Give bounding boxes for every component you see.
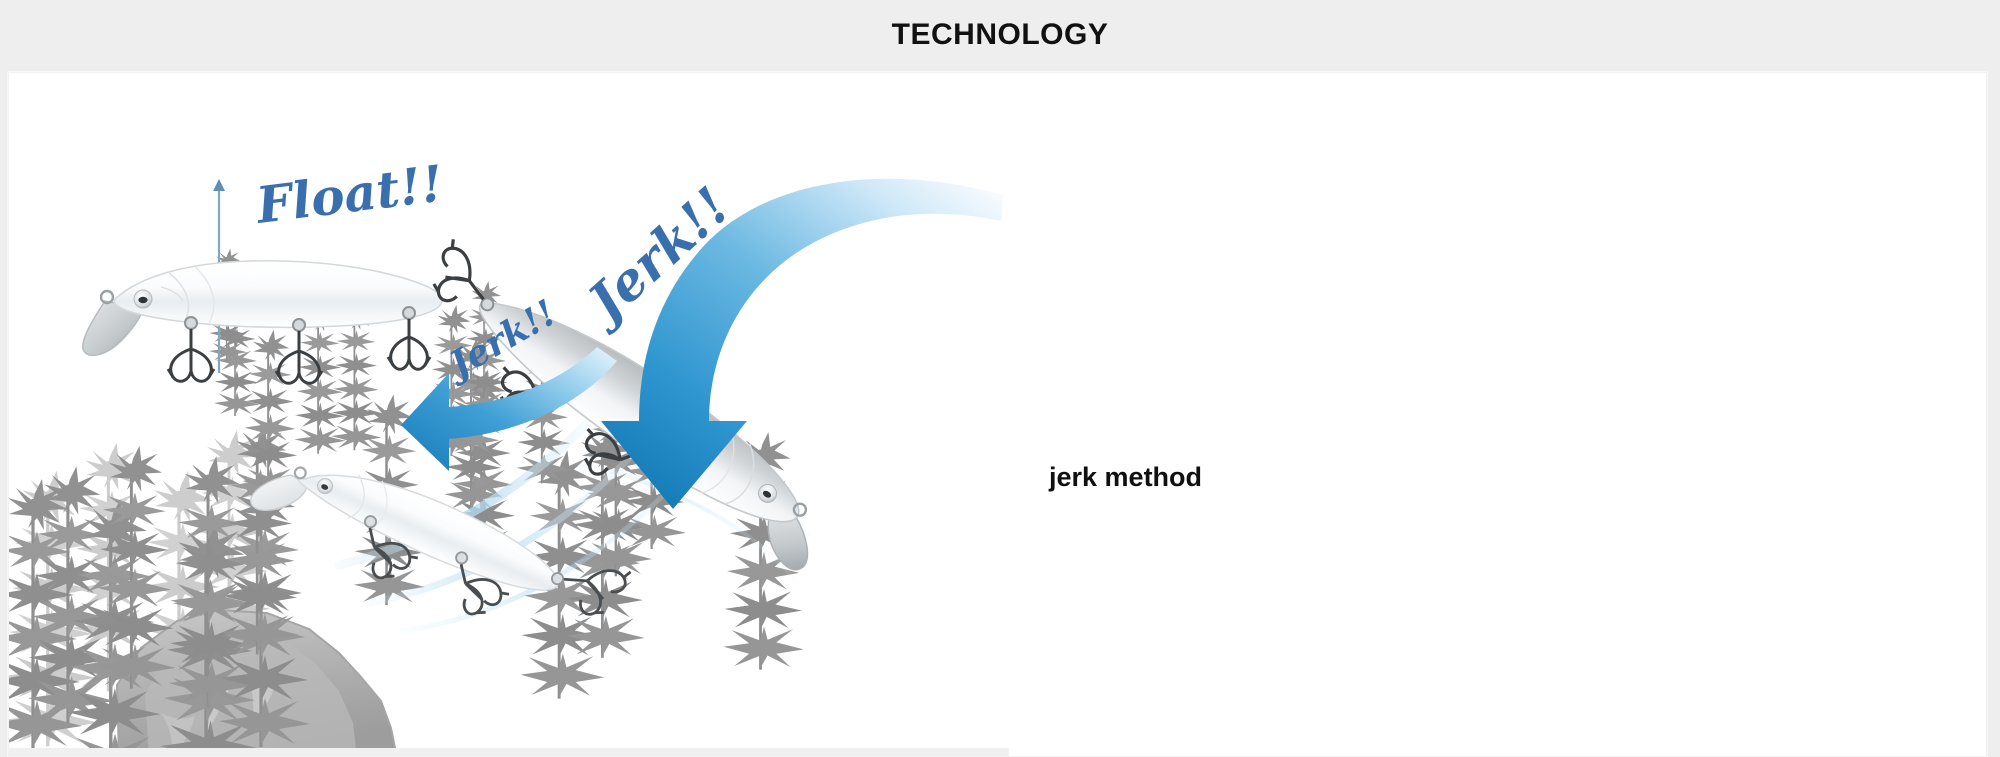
page-title: TECHNOLOGY bbox=[0, 0, 2000, 72]
content-panel: Float!! Jerk!! Jerk!! jerk method bbox=[8, 72, 1987, 757]
picture-floor-strip bbox=[9, 748, 1009, 757]
jerk-method-illustration: Float!! Jerk!! Jerk!! bbox=[9, 73, 1009, 757]
jerk-method-caption: jerk method bbox=[1049, 464, 1202, 491]
